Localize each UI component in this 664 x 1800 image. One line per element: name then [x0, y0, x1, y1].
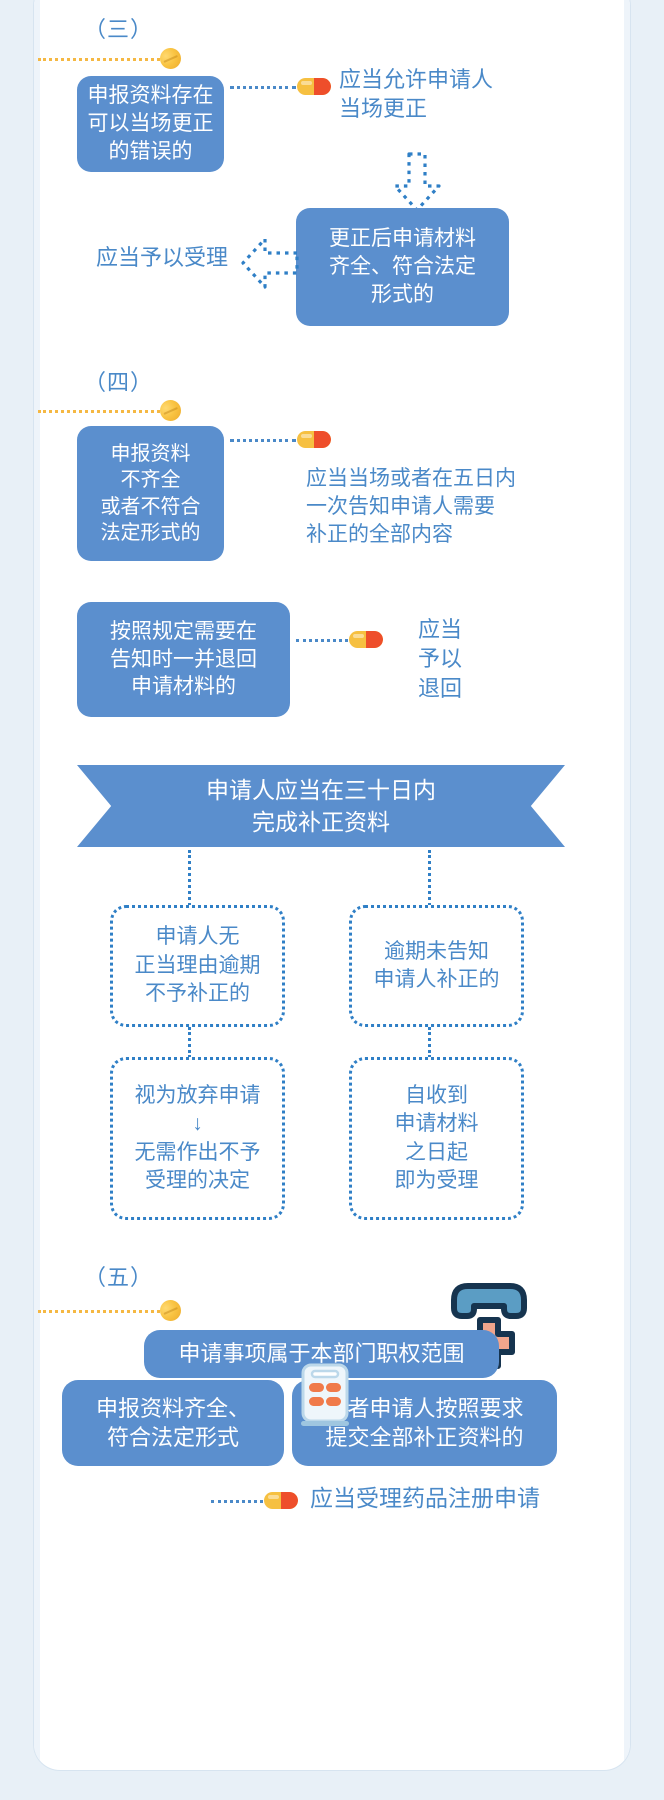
section-four-rail — [38, 410, 172, 413]
text-should-accept: 应当予以受理 — [78, 243, 246, 272]
box-return-materials-required: 按照规定需要在 告知时一并退回 申请材料的 — [77, 602, 290, 717]
section-number-three: （三） — [84, 12, 153, 44]
text-notify-all-corrections: 应当当场或者在五日内 一次告知申请人需要 补正的全部内容 — [306, 465, 596, 549]
connector-three-a — [230, 86, 296, 89]
dotted-arrow-left-icon — [239, 235, 301, 291]
box-declaration-correctable-error: 申报资料存在 可以当场更正 的错误的 — [77, 76, 224, 172]
dbox-accepted-from-receipt: 自收到 申请材料 之日起 即为受理 — [349, 1057, 524, 1220]
capsule-pill-icon-3 — [349, 631, 383, 648]
infographic-card: （三） 申报资料存在 可以当场更正 的错误的 应当允许申请人 当场更正 更正后申… — [34, 0, 630, 1770]
tablet-pill-icon-2 — [157, 397, 185, 425]
ribbon-thirty-day-correction: 申请人应当在三十日内 完成补正资料 — [77, 765, 565, 847]
text-should-accept-drug-registration: 应当受理药品注册申请 — [310, 1483, 600, 1514]
dbox-overdue-no-notice: 逾期未告知 申请人补正的 — [349, 905, 524, 1027]
connector-five-final — [211, 1500, 263, 1503]
branch-connector-right-2 — [428, 1027, 431, 1058]
dbox-deemed-abandoned: 视为放弃申请 ↓ 无需作出不予 受理的决定 — [110, 1057, 285, 1220]
branch-connector-left-2 — [188, 1027, 191, 1058]
box-corrected-materials-complete: 更正后申请材料 齐全、符合法定 形式的 — [296, 208, 509, 326]
text-allow-onsite-correction: 应当允许申请人 当场更正 — [339, 65, 549, 124]
capsule-pill-icon-4 — [264, 1492, 298, 1509]
box-materials-complete-legal-form: 申报资料齐全、 符合法定形式 — [62, 1380, 284, 1466]
connector-four-a — [230, 439, 296, 442]
section-number-five: （五） — [84, 1260, 153, 1292]
text-should-return: 应当 予以 退回 — [418, 615, 528, 703]
tablet-pill-icon-3 — [157, 1297, 185, 1325]
branch-connector-right — [428, 850, 431, 906]
blister-pack-icon — [297, 1359, 353, 1433]
tablet-pill-icon — [157, 45, 185, 73]
section-number-four: （四） — [84, 365, 153, 397]
capsule-pill-icon — [297, 78, 331, 95]
connector-four-b — [296, 639, 348, 642]
dotted-arrow-down-icon — [389, 152, 445, 214]
dbox-no-justified-reason: 申请人无 正当理由逾期 不予补正的 — [110, 905, 285, 1027]
branch-connector-left — [188, 850, 191, 906]
capsule-pill-icon-2 — [297, 431, 331, 448]
section-five-rail — [38, 1310, 172, 1313]
section-three-rail — [38, 58, 172, 61]
box-materials-incomplete: 申报资料 不齐全 或者不符合 法定形式的 — [77, 426, 224, 561]
